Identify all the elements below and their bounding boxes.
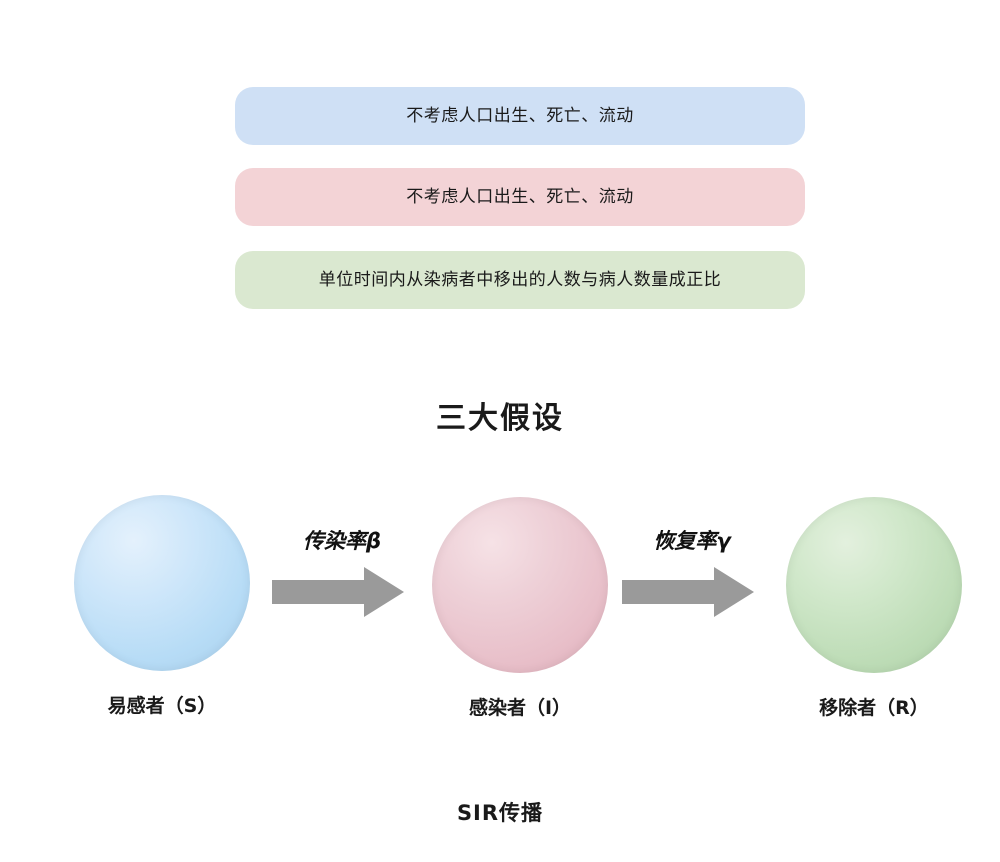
- susceptible-label: 易感者（S）: [42, 691, 282, 718]
- assumption-bar-3-text: 单位时间内从染病者中移出的人数与病人数量成正比: [319, 272, 722, 289]
- recovery-arrow-group: 恢复率γ: [622, 525, 762, 645]
- removed-circle: [786, 497, 962, 673]
- diagram-canvas: 不考虑人口出生、死亡、流动 不考虑人口出生、死亡、流动 单位时间内从染病者中移出…: [0, 0, 1000, 862]
- right-arrow-icon: [272, 567, 404, 617]
- infected-label: 感染者（I）: [400, 693, 640, 720]
- sir-flow-diagram: 易感者（S） 传染率β 感染者（I） 恢复率γ 移除者（R）: [0, 495, 1000, 745]
- sir-node-susceptible: 易感者（S）: [74, 495, 250, 671]
- removed-label: 移除者（R）: [754, 693, 994, 720]
- recovery-rate-label: 恢复率γ: [622, 525, 762, 555]
- assumption-bar-2-text: 不考虑人口出生、死亡、流动: [406, 189, 634, 206]
- assumption-bar-2: 不考虑人口出生、死亡、流动: [235, 168, 805, 226]
- assumption-bar-1: 不考虑人口出生、死亡、流动: [235, 87, 805, 145]
- assumption-bar-3: 单位时间内从染病者中移出的人数与病人数量成正比: [235, 251, 805, 309]
- sir-node-infected: 感染者（I）: [432, 497, 608, 673]
- right-arrow-icon: [622, 567, 754, 617]
- sir-node-removed: 移除者（R）: [786, 497, 962, 673]
- diagram-caption: SIR传播: [0, 797, 1000, 827]
- susceptible-circle: [74, 495, 250, 671]
- infected-circle: [432, 497, 608, 673]
- section-title: 三大假设: [0, 393, 1000, 437]
- transmission-rate-label: 传染率β: [272, 525, 412, 555]
- transmission-arrow-group: 传染率β: [272, 525, 412, 645]
- assumption-bar-1-text: 不考虑人口出生、死亡、流动: [406, 108, 634, 125]
